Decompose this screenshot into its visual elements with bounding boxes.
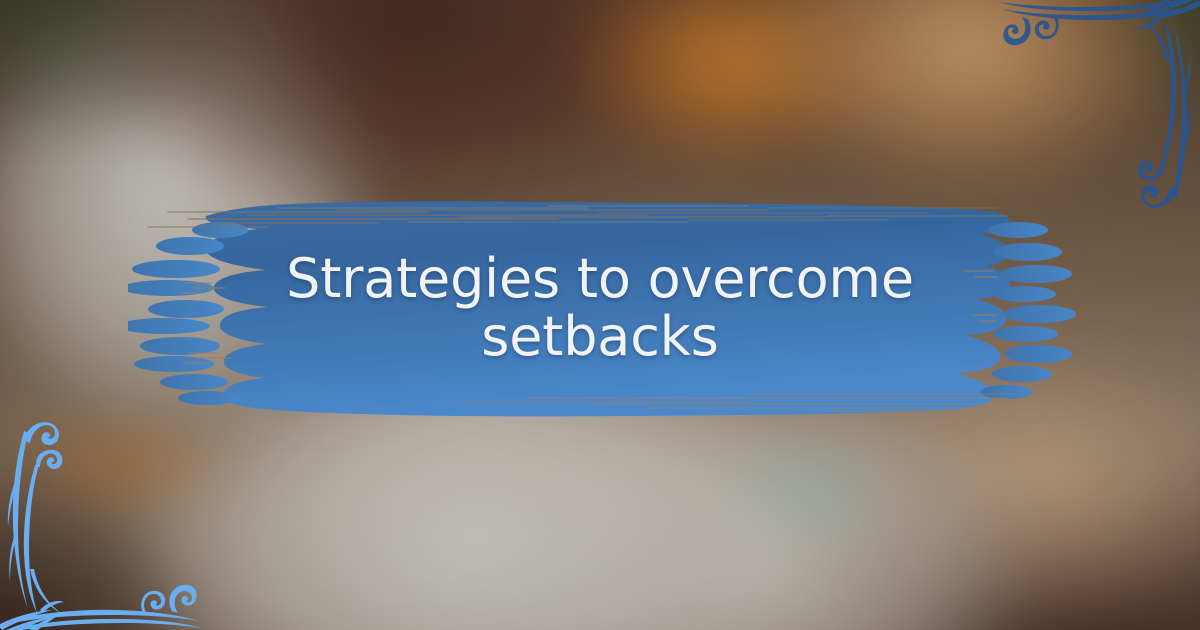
social-share-banner: Strategies to overcome setbacks bbox=[0, 0, 1200, 630]
page-title: Strategies to overcome setbacks bbox=[190, 250, 1010, 366]
